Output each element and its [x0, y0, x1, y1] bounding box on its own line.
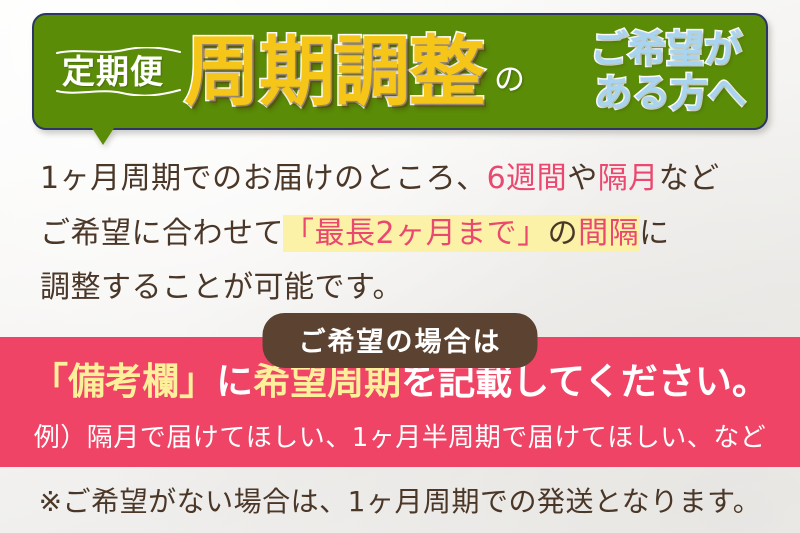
header-main-title: 周期調整	[184, 34, 484, 110]
footer-note: ※ご希望がない場合は、1ヶ月周期での発送となります。	[0, 480, 800, 520]
speech-bubble-tail	[92, 128, 114, 145]
desc-l2-d: 間隔	[578, 216, 639, 251]
promo-banner: 定期便 周期調整 の ご希望が ある方へ 1ヶ月周期でのお届けのところ、6週間や…	[0, 0, 800, 533]
header-wish-line-1: ご希望が	[590, 30, 746, 70]
wavy-rule-bottom-icon	[56, 87, 181, 96]
wavy-rule-top-icon	[56, 47, 181, 56]
subscription-badge: 定期便	[56, 43, 168, 100]
description-line-2: ご希望に合わせて「最長2ヶ月まで」の間隔に	[40, 207, 770, 262]
description-line-3: 調整することが可能です。	[40, 261, 770, 316]
header-content-row: 定期便 周期調整 の ご希望が ある方へ	[34, 15, 766, 128]
desc-l2-b: 「最長2ヶ月まで」	[284, 216, 548, 251]
header-wish-line-2: ある方へ	[590, 74, 746, 114]
desc-l1-b: 6週間	[487, 161, 568, 196]
header-speech-bubble: 定期便 周期調整 の ご希望が ある方へ	[32, 13, 768, 130]
desc-l2-e: に	[639, 216, 670, 251]
header-wish-block: ご希望が ある方へ	[590, 30, 746, 113]
desc-l2-c: の	[548, 216, 579, 251]
wish-case-pill-label: ご希望の場合は	[263, 313, 538, 368]
header-particle: の	[494, 65, 525, 96]
instruction-field-name: 「備考欄」	[31, 360, 216, 403]
desc-l1-c: や	[567, 161, 598, 196]
description-paragraph: 1ヶ月周期でのお届けのところ、6週間や隔月など ご希望に合わせて「最長2ヶ月まで…	[40, 152, 770, 316]
subscription-badge-label: 定期便	[62, 52, 164, 91]
desc-l2-a: ご希望に合わせて	[40, 216, 284, 251]
desc-l1-d: 隔月	[598, 161, 659, 196]
instruction-example: 例）隔月で届けてほしい、1ヶ月半周期で届けてほしい、など	[0, 417, 800, 454]
desc-l1-a: 1ヶ月周期でのお届けのところ、	[40, 161, 487, 196]
instruction-particle-1: に	[216, 360, 253, 403]
desc-l1-e: など	[659, 161, 720, 196]
description-line-1: 1ヶ月周期でのお届けのところ、6週間や隔月など	[40, 152, 770, 207]
